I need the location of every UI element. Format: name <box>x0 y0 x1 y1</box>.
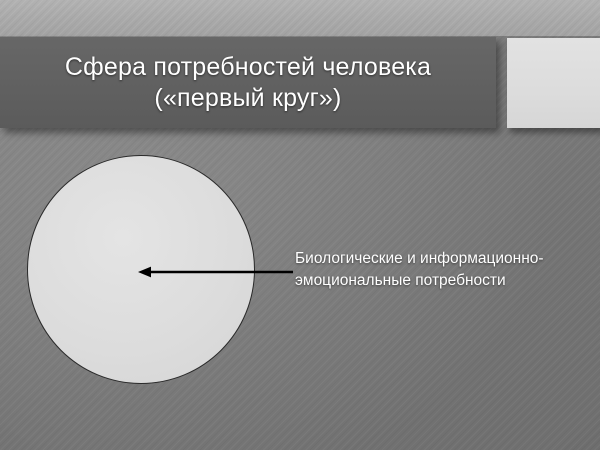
annotation-line-1: Биологические и информационно- <box>295 248 595 270</box>
top-right-panel <box>507 38 600 128</box>
annotation-line-2: эмоциональные потребности <box>295 270 595 292</box>
annotation-text-block: Биологические и информационно- эмоционал… <box>295 248 595 292</box>
slide-title-line-1: Сфера потребностей человека <box>65 52 431 83</box>
leader-arrow-left-icon <box>130 258 305 288</box>
slide-title-line-2: («первый круг») <box>154 83 341 114</box>
top-light-band <box>0 0 600 36</box>
top-band-stripe-texture <box>0 0 600 36</box>
slide-title-bar: Сфера потребностей человека («первый кру… <box>0 37 496 128</box>
slide-canvas: Сфера потребностей человека («первый кру… <box>0 0 600 450</box>
